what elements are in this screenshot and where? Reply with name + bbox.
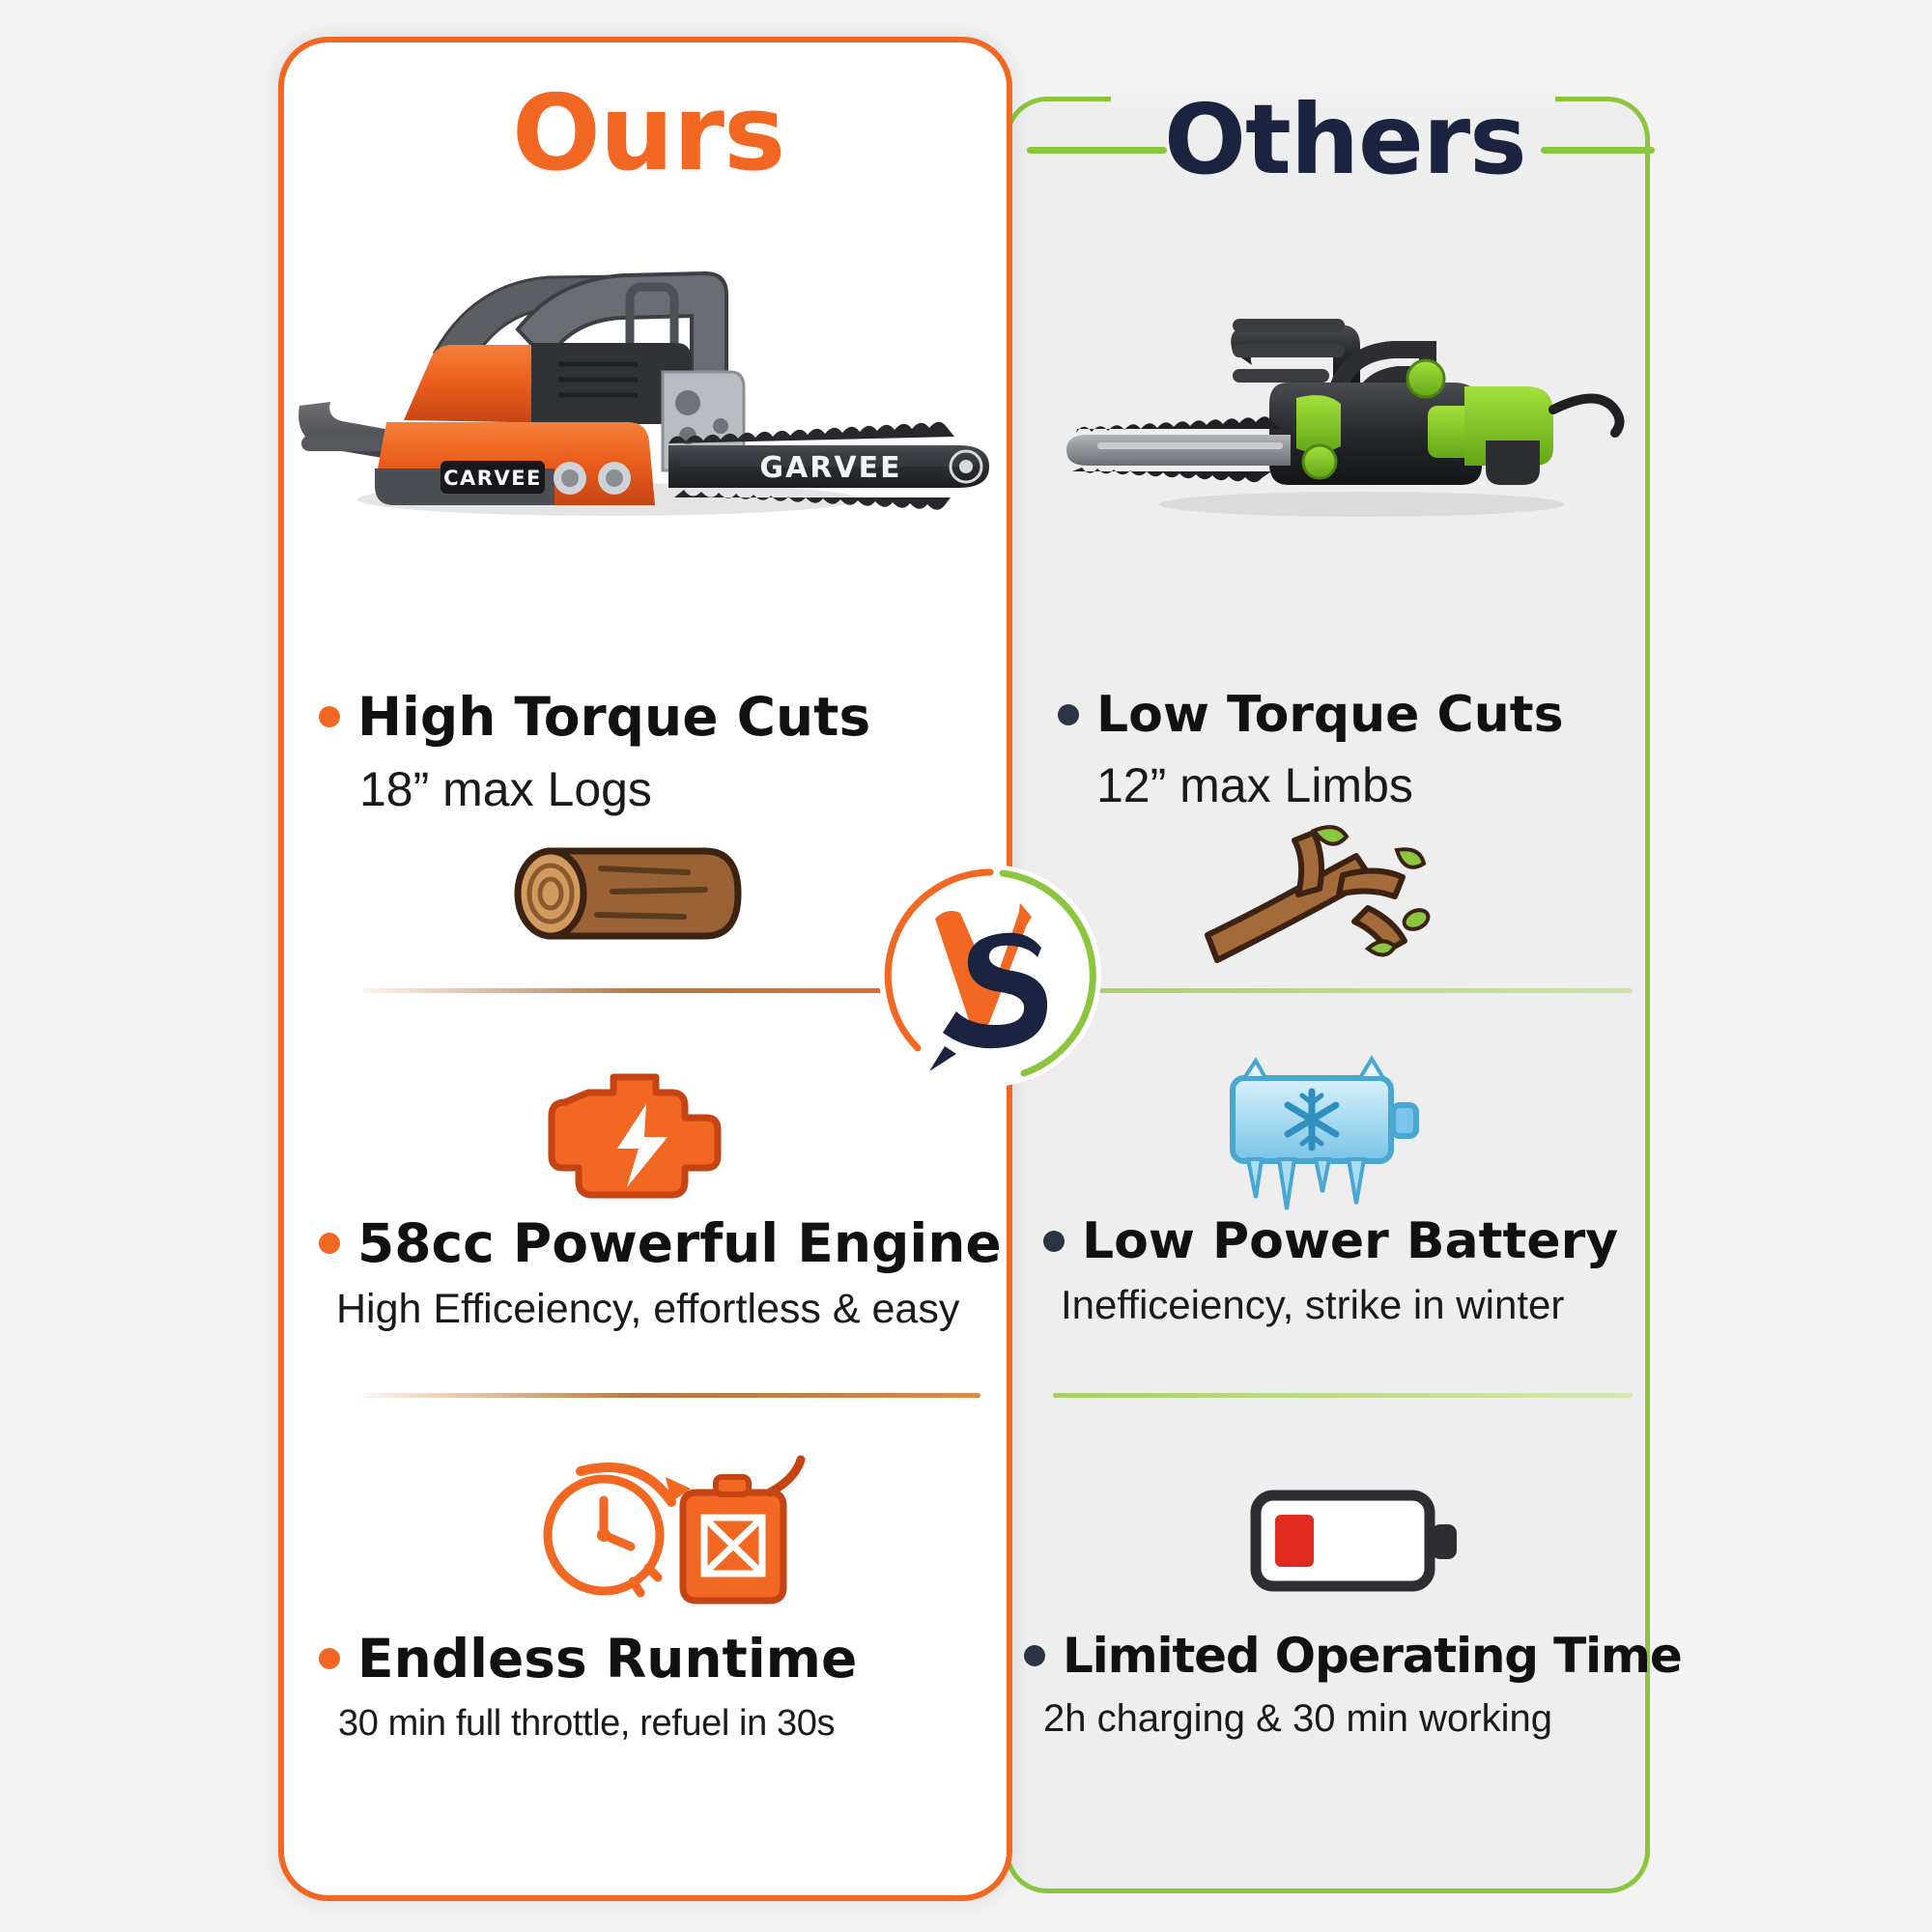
ours-feature-3-title: Endless Runtime: [357, 1628, 857, 1690]
others-feature-1-title: Low Torque Cuts: [1096, 686, 1564, 744]
ours-feature-2-title: 58cc Powerful Engine: [357, 1212, 1002, 1274]
others-feature-2-heading: Low Power Battery: [1043, 1212, 1681, 1270]
others-feature-3: Limited Operating Time 2h charging & 30 …: [1024, 1628, 1681, 1741]
ours-title: Ours: [512, 82, 784, 186]
others-feature-2: Low Power Battery Inefficeiency, strike …: [1043, 1212, 1681, 1328]
ours-product-image: CARVEE GARVEE: [290, 237, 1005, 536]
infographic-stage: Ours Others: [0, 0, 1932, 1932]
ours-feature-3-sub: 30 min full throttle, refuel in 30s: [338, 1703, 995, 1745]
others-feature-3-heading: Limited Operating Time: [1024, 1628, 1681, 1684]
vs-badge: [879, 865, 1101, 1087]
ours-feature-1: High Torque Cuts 18” max Logs: [319, 686, 995, 817]
ours-feature-2-heading: 58cc Powerful Engine: [319, 1212, 995, 1274]
ours-feature-2-sub: High Efficeiency, effortless & easy: [336, 1286, 995, 1333]
others-feature-1-heading: Low Torque Cuts: [1058, 686, 1676, 744]
others-product-image: [1043, 290, 1642, 531]
low-battery-icon: [1246, 1478, 1468, 1604]
others-title-connector-left: [1027, 147, 1167, 154]
others-divider-2: [1053, 1393, 1633, 1398]
others-feature-2-title: Low Power Battery: [1082, 1212, 1618, 1270]
others-divider-1: [1053, 988, 1633, 993]
engine-bolt-icon: [546, 1048, 739, 1212]
bullet-point-icon: [1024, 1645, 1045, 1666]
bullet-point-icon: [319, 1648, 340, 1669]
others-feature-3-title: Limited Operating Time: [1063, 1628, 1682, 1684]
others-feature-1-sub: 12” max Limbs: [1096, 757, 1676, 813]
wood-log-icon: [512, 826, 753, 961]
ours-feature-3-heading: Endless Runtime: [319, 1628, 995, 1690]
bullet-point-icon: [1043, 1231, 1065, 1252]
ours-feature-3: Endless Runtime 30 min full throttle, re…: [319, 1628, 995, 1745]
bullet-point-icon: [1058, 704, 1079, 725]
bullet-point-icon: [319, 1233, 340, 1254]
bullet-point-icon: [319, 706, 340, 727]
others-title-connector-right: [1541, 147, 1655, 154]
clock-fuel-can-icon: [526, 1454, 807, 1608]
others-title: Others: [1164, 92, 1526, 188]
tree-branch-icon: [1198, 821, 1459, 966]
frozen-battery-icon: [1217, 1053, 1439, 1217]
others-feature-1: Low Torque Cuts 12” max Limbs: [1058, 686, 1676, 813]
others-feature-2-sub: Inefficeiency, strike in winter: [1061, 1282, 1681, 1328]
ours-feature-1-sub: 18” max Logs: [359, 761, 995, 817]
svg-text:CARVEE: CARVEE: [443, 467, 542, 490]
ours-feature-1-title: High Torque Cuts: [357, 686, 870, 748]
others-feature-3-sub: 2h charging & 30 min working: [1043, 1697, 1681, 1741]
ours-feature-1-heading: High Torque Cuts: [319, 686, 995, 748]
svg-text:GARVEE: GARVEE: [759, 451, 901, 485]
ours-divider-2: [362, 1393, 980, 1398]
ours-feature-2: 58cc Powerful Engine High Efficeiency, e…: [319, 1212, 995, 1333]
